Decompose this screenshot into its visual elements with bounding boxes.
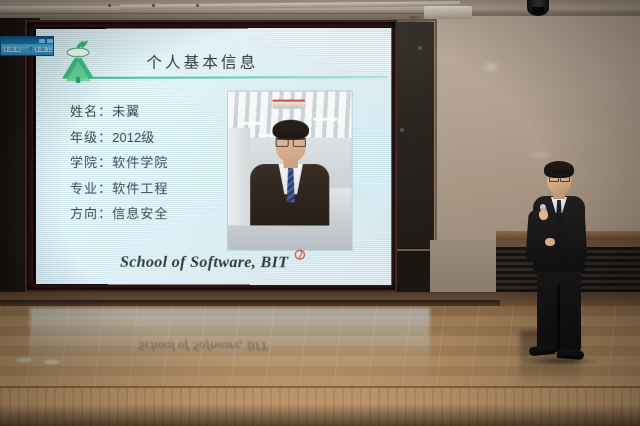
portrait-light xyxy=(238,122,264,125)
media-player-window[interactable]: 0:00:00 ↺ 0:00:12 xyxy=(0,36,54,56)
info-value: 软件学院 xyxy=(112,155,168,170)
slide-footer: School of Software, BIT xyxy=(36,248,391,272)
presenter-arm-right xyxy=(566,208,588,265)
ceiling-speaker-icon xyxy=(527,0,549,16)
portrait-shelving xyxy=(329,188,351,218)
presenter-hand-lower xyxy=(545,238,555,246)
portrait-floor xyxy=(228,225,352,249)
panel-highlight-dot xyxy=(418,46,422,50)
info-label: 年级： xyxy=(70,129,112,144)
slide-footer-text: School of Software, BIT xyxy=(120,253,288,271)
ceiling-bolt xyxy=(196,4,199,7)
total-time: 0:00:12 xyxy=(35,47,52,52)
projector-icon xyxy=(424,6,472,19)
presentation-slide: 个人基本信息 姓名：未翼 年级：2012级 学院：软件学院 专业：软件工程 方向… xyxy=(36,28,391,285)
slide-title: 个人基本信息 xyxy=(146,50,258,72)
info-row-name: 姓名：未翼 xyxy=(70,101,168,120)
wall-smudge xyxy=(528,150,552,160)
ceiling-bolt xyxy=(108,4,111,7)
info-row-school: 学院：软件学院 xyxy=(70,152,168,171)
presenter-glasses-icon xyxy=(549,175,570,180)
presenter-shoe-left xyxy=(529,345,556,356)
info-row-direction: 方向：信息安全 xyxy=(70,203,168,222)
portrait-light xyxy=(313,118,337,121)
presenter xyxy=(523,160,597,365)
info-value: 2012级 xyxy=(112,129,154,144)
floor-highlight xyxy=(44,360,60,364)
panel-highlight-dot xyxy=(400,128,404,132)
slide-title-underline xyxy=(88,76,387,79)
info-row-grade: 年级：2012级 xyxy=(70,126,168,145)
portrait-hanging-sign xyxy=(272,100,304,109)
info-value: 未翼 xyxy=(112,104,140,119)
presentation-photo: 个人基本信息 姓名：未翼 年级：2012级 学院：软件学院 专业：软件工程 方向… xyxy=(0,0,640,426)
floor-reflected-footer-text: School of Software, BIT xyxy=(138,338,268,354)
wall-smudge xyxy=(480,60,502,74)
info-row-major: 专业：软件工程 xyxy=(70,178,168,197)
info-label: 姓名： xyxy=(70,104,112,119)
minimize-button[interactable] xyxy=(39,39,45,43)
slide-info-list: 姓名：未翼 年级：2012级 学院：软件学院 专业：软件工程 方向：信息安全 xyxy=(70,101,168,222)
floor-highlight xyxy=(16,358,32,362)
presenter-shoe-right xyxy=(557,349,585,360)
elapsed-time: 0:00:00 xyxy=(4,47,21,52)
loop-icon[interactable]: ↺ xyxy=(28,47,33,53)
info-label: 专业： xyxy=(70,181,112,196)
info-value: 软件工程 xyxy=(112,181,168,196)
info-label: 方向： xyxy=(70,206,112,221)
presenter-leg-gap xyxy=(557,285,560,349)
ceiling-bolt xyxy=(152,4,155,7)
stage-front-shadow xyxy=(0,404,640,426)
bit-emblem-icon xyxy=(294,248,306,260)
portrait-photo xyxy=(227,90,353,250)
portrait-hair xyxy=(272,120,308,140)
info-value: 信息安全 xyxy=(112,206,168,221)
close-button[interactable] xyxy=(47,39,53,43)
portrait-glasses-icon xyxy=(276,138,306,146)
info-label: 学院： xyxy=(70,155,112,170)
